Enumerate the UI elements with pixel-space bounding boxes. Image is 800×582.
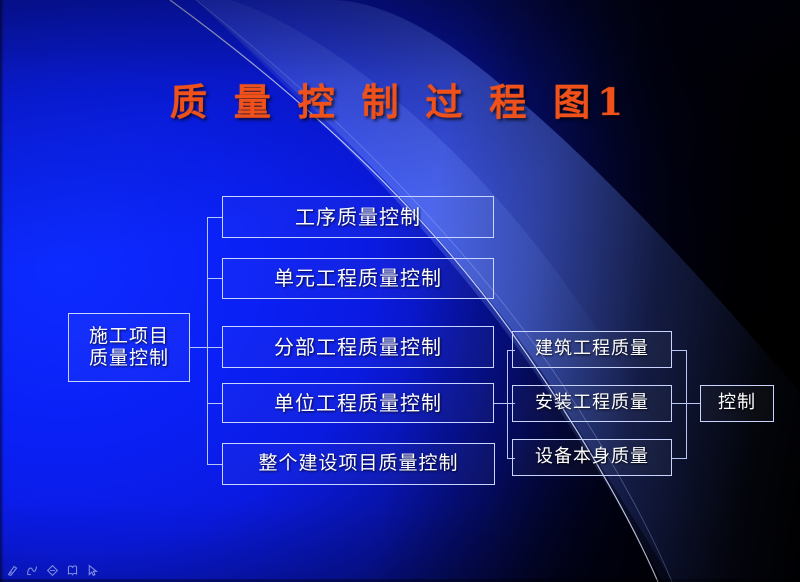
node-quality-1[interactable]: 建筑工程质量 <box>512 331 672 368</box>
node-quality-2[interactable]: 安装工程质量 <box>512 385 672 422</box>
node-stage-1-label: 工序质量控制 <box>295 206 421 228</box>
node-stage-4[interactable]: 单位工程质量控制 <box>222 383 494 423</box>
connector-trunk-left <box>207 217 208 465</box>
connector-trunk-right <box>507 350 508 458</box>
connector-merge-right <box>686 350 687 459</box>
connector-branch-stage-4 <box>207 403 223 404</box>
node-quality-2-label: 安装工程质量 <box>535 393 649 413</box>
node-terminal-control[interactable]: 控制 <box>700 385 774 422</box>
connector-branch-stage-5 <box>207 464 223 465</box>
connector-quality3-out <box>672 458 686 459</box>
node-quality-3[interactable]: 设备本身质量 <box>512 439 672 476</box>
connector-branch-stage-2 <box>207 278 223 279</box>
node-stage-2-label: 单元工程质量控制 <box>274 267 442 289</box>
squiggle-icon[interactable] <box>26 564 39 577</box>
cursor-icon[interactable] <box>86 564 99 577</box>
node-stage-5-label: 整个建设项目质量控制 <box>258 453 458 474</box>
node-stage-4-label: 单位工程质量控制 <box>274 392 442 414</box>
node-quality-1-label: 建筑工程质量 <box>535 339 649 359</box>
node-stage-2[interactable]: 单元工程质量控制 <box>222 258 494 299</box>
slide-canvas: 质 量 控 制 过 程 图1 施工项目 质量控制 工序质量控制 单元工程质量控制… <box>0 0 800 582</box>
diamond-icon[interactable] <box>46 564 59 577</box>
connector-branch-stage-1 <box>207 217 223 218</box>
icon-tray <box>6 564 99 577</box>
slide-title: 质 量 控 制 过 程 图1 <box>0 72 800 126</box>
node-quality-3-label: 设备本身质量 <box>535 447 649 467</box>
node-root-line2: 质量控制 <box>89 348 169 369</box>
node-terminal-label: 控制 <box>718 393 756 413</box>
pen-icon[interactable] <box>6 564 19 577</box>
node-stage-3-label: 分部工程质量控制 <box>274 336 442 358</box>
connector-quality1-out <box>672 350 686 351</box>
node-stage-3[interactable]: 分部工程质量控制 <box>222 326 494 368</box>
connector-root-stub <box>190 347 208 348</box>
node-root-line1: 施工项目 <box>89 326 169 347</box>
connector-branch-stage-3 <box>207 347 223 348</box>
node-stage-1[interactable]: 工序质量控制 <box>222 196 494 238</box>
book-icon[interactable] <box>66 564 79 577</box>
node-stage-5[interactable]: 整个建设项目质量控制 <box>222 443 495 485</box>
node-root[interactable]: 施工项目 质量控制 <box>68 313 190 382</box>
